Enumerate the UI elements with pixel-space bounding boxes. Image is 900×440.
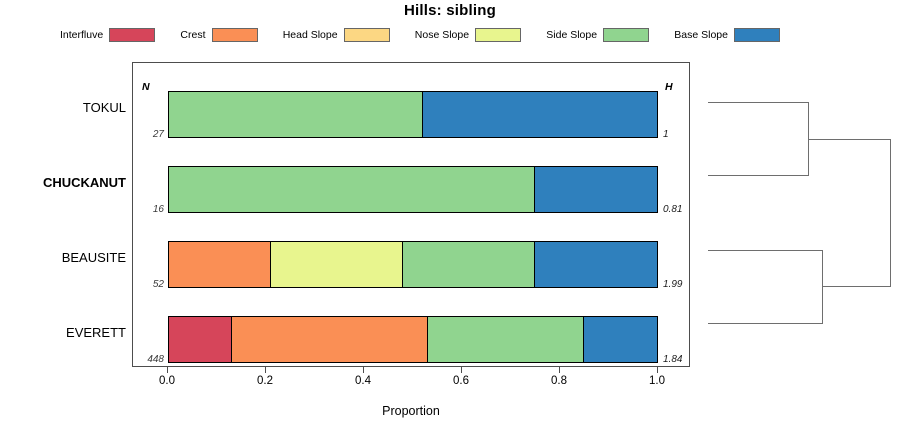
dendrogram-leaf-beausite: [708, 250, 822, 251]
legend-item-label: Crest: [180, 29, 205, 41]
page-title: Hills: sibling: [0, 2, 900, 19]
bar-segment-side-slope[interactable]: [403, 242, 535, 287]
stacked-bar-tokul[interactable]: [168, 91, 658, 138]
bar-segment-base-slope[interactable]: [584, 317, 657, 362]
n-value: 16: [133, 204, 164, 215]
bar-segment-nose-slope[interactable]: [271, 242, 403, 287]
plot-panel: N H 27 1 16 0.81 52 1.99 448: [132, 62, 690, 367]
legend-item-label: Head Slope: [283, 29, 338, 41]
bar-segment-interfluve[interactable]: [169, 317, 232, 362]
category-label-everett: EVERETT: [66, 325, 126, 340]
stacked-bar-everett[interactable]: [168, 316, 658, 363]
bar-segment-side-slope[interactable]: [428, 317, 584, 362]
n-value: 448: [133, 354, 164, 365]
dendrogram-join-cluster-b: [822, 250, 823, 324]
table-row[interactable]: 448 1.84: [133, 316, 691, 363]
category-axis-labels: TOKUL CHUCKANUT BEAUSITE EVERETT: [0, 62, 126, 367]
legend-item-label: Nose Slope: [415, 29, 469, 41]
x-tick: [167, 367, 168, 373]
dendrogram: [700, 62, 896, 367]
dendrogram-stem-cluster-b: [822, 286, 890, 287]
table-row[interactable]: 27 1: [133, 91, 691, 138]
legend-swatch-head-slope: [344, 28, 390, 42]
legend-swatch-base-slope: [734, 28, 780, 42]
legend-item-crest[interactable]: Crest: [180, 28, 257, 42]
legend-swatch-crest: [212, 28, 258, 42]
x-axis: 0.0 0.2 0.4 0.6 0.8 1.0: [132, 367, 690, 397]
category-label-chuckanut: CHUCKANUT: [43, 175, 126, 190]
bar-segment-side-slope[interactable]: [169, 92, 423, 137]
x-tick: [461, 367, 462, 373]
legend-item-interfluve[interactable]: Interfluve: [60, 28, 155, 42]
x-tick-label: 0.4: [355, 375, 371, 387]
legend-item-base-slope[interactable]: Base Slope: [674, 28, 780, 42]
h-value: 1.84: [663, 354, 682, 365]
stacked-bar-chuckanut[interactable]: [168, 166, 658, 213]
legend-item-label: Interfluve: [60, 29, 103, 41]
x-tick-label: 0.8: [551, 375, 567, 387]
dendrogram-leaf-chuckanut: [708, 175, 808, 176]
table-row[interactable]: 52 1.99: [133, 241, 691, 288]
legend-item-nose-slope[interactable]: Nose Slope: [415, 28, 521, 42]
bar-segment-crest[interactable]: [232, 317, 427, 362]
legend-swatch-side-slope: [603, 28, 649, 42]
bar-segment-side-slope[interactable]: [169, 167, 535, 212]
bar-segment-base-slope[interactable]: [423, 92, 657, 137]
x-tick: [363, 367, 364, 373]
legend-swatch-interfluve: [109, 28, 155, 42]
h-value: 1.99: [663, 279, 682, 290]
x-tick-label: 0.0: [159, 375, 175, 387]
n-value: 52: [133, 279, 164, 290]
dendrogram-stem-cluster-a: [808, 139, 890, 140]
x-tick: [657, 367, 658, 373]
bar-segment-crest[interactable]: [169, 242, 271, 287]
x-tick-label: 0.6: [453, 375, 469, 387]
dendrogram-leaf-everett: [708, 323, 822, 324]
stacked-bar-beausite[interactable]: [168, 241, 658, 288]
table-row[interactable]: 16 0.81: [133, 166, 691, 213]
dendrogram-root-join: [890, 139, 891, 287]
category-label-beausite: BEAUSITE: [62, 250, 126, 265]
legend-item-head-slope[interactable]: Head Slope: [283, 28, 390, 42]
h-value: 0.81: [663, 204, 682, 215]
x-tick-label: 0.2: [257, 375, 273, 387]
legend-swatch-nose-slope: [475, 28, 521, 42]
x-axis-label: Proportion: [132, 404, 690, 418]
dendrogram-leaf-tokul: [708, 102, 808, 103]
legend: Interfluve Crest Head Slope Nose Slope S…: [60, 26, 780, 44]
legend-item-label: Side Slope: [546, 29, 597, 41]
bar-segment-base-slope[interactable]: [535, 167, 657, 212]
n-value: 27: [133, 129, 164, 140]
h-value: 1: [663, 129, 669, 140]
category-label-tokul: TOKUL: [83, 100, 126, 115]
legend-item-label: Base Slope: [674, 29, 728, 41]
legend-item-side-slope[interactable]: Side Slope: [546, 28, 649, 42]
x-tick-label: 1.0: [649, 375, 665, 387]
x-tick: [559, 367, 560, 373]
x-tick: [265, 367, 266, 373]
bar-segment-base-slope[interactable]: [535, 242, 657, 287]
